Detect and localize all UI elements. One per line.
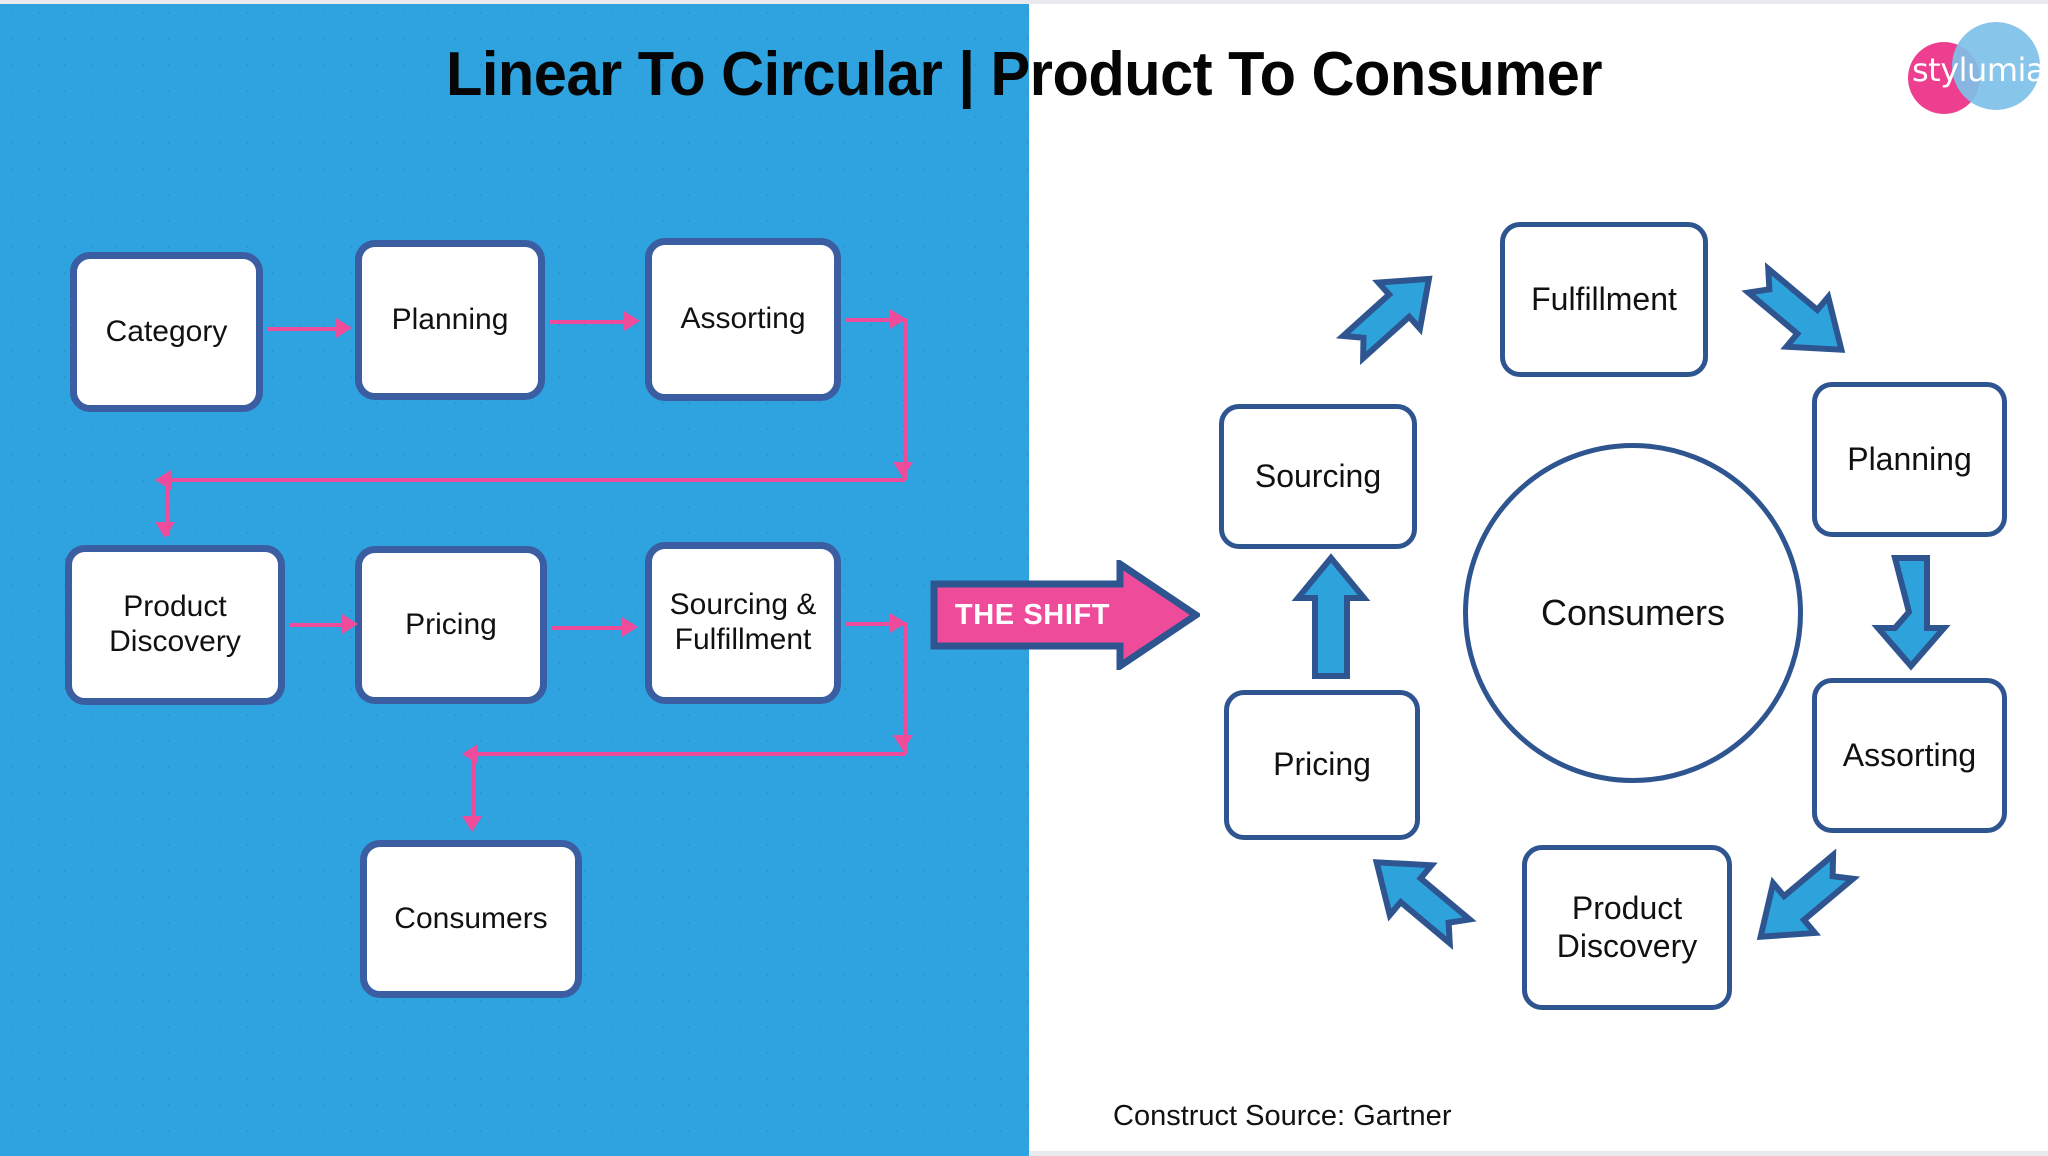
linear-edge-pricing-sf-head — [622, 617, 638, 637]
circular-arrow-pricing-to-sourcing — [1288, 552, 1374, 682]
stylumia-logo: stylumia — [1908, 16, 2036, 120]
linear-edge-pd-pricing — [290, 623, 346, 627]
linear-node-product-discovery[interactable]: Product Discovery — [65, 545, 285, 705]
linear-edge-sf-down-head — [893, 735, 913, 751]
linear-edge-assorting-down — [903, 320, 907, 480]
linear-edge-category-planning — [268, 327, 338, 331]
linear-node-category[interactable]: Category — [70, 252, 263, 412]
linear-edge-planning-assorting-head — [624, 311, 640, 331]
cpd-line-2: Discovery — [1557, 928, 1697, 964]
circular-arrow-sourcing-to-fulfillment — [1336, 268, 1446, 358]
circular-node-planning-label: Planning — [1841, 441, 1978, 478]
linear-node-sourcing-fulfillment[interactable]: Sourcing & Fulfillment — [645, 542, 841, 704]
top-divider — [0, 0, 2048, 4]
linear-node-pricing-label: Pricing — [399, 608, 503, 643]
linear-edge-row2-return — [472, 752, 905, 756]
linear-node-planning-label: Planning — [386, 303, 515, 338]
pd-line-1: Product — [123, 590, 226, 623]
linear-node-sourcing-fulfillment-label: Sourcing & Fulfillment — [664, 588, 823, 658]
linear-edge-to-consumers-head — [462, 816, 482, 832]
linear-edge-category-planning-head — [336, 318, 352, 338]
circular-arrow-fulfillment-to-planning — [1740, 268, 1860, 363]
linear-edge-pricing-sf — [552, 626, 624, 630]
sf-line-2: Fulfillment — [675, 623, 812, 656]
circular-arrow-assorting-to-product-discovery — [1742, 855, 1862, 950]
circular-node-pricing-label: Pricing — [1267, 746, 1377, 783]
circular-arrow-planning-to-assorting — [1868, 552, 1954, 670]
linear-node-planning[interactable]: Planning — [355, 240, 545, 400]
cpd-line-1: Product — [1572, 890, 1682, 926]
circular-node-pricing[interactable]: Pricing — [1224, 690, 1420, 840]
linear-edge-planning-assorting — [550, 320, 626, 324]
circular-node-planning[interactable]: Planning — [1812, 382, 2007, 537]
circular-center-consumers: Consumers — [1463, 443, 1803, 783]
linear-node-consumers[interactable]: Consumers — [360, 840, 582, 998]
circular-node-product-discovery-label: Product Discovery — [1551, 890, 1703, 964]
linear-edge-to-product-discovery-head — [155, 522, 175, 538]
circular-node-sourcing[interactable]: Sourcing — [1219, 404, 1417, 549]
the-shift-arrow[interactable]: THE SHIFT — [930, 560, 1200, 670]
source-note: Construct Source: Gartner — [1113, 1100, 1451, 1133]
linear-node-assorting-label: Assorting — [674, 302, 811, 337]
linear-node-consumers-label: Consumers — [388, 902, 553, 937]
slide-canvas: Linear To Circular | Product To Consumer… — [0, 0, 2048, 1156]
circular-node-fulfillment[interactable]: Fulfillment — [1500, 222, 1708, 377]
linear-edge-assorting-down-head — [893, 462, 913, 478]
sf-line-1: Sourcing & — [670, 588, 817, 621]
pd-line-2: Discovery — [109, 625, 241, 658]
circular-node-product-discovery[interactable]: Product Discovery — [1522, 845, 1732, 1010]
page-title: Linear To Circular | Product To Consumer — [41, 44, 2007, 106]
circular-arrow-product-discovery-to-pricing — [1358, 850, 1478, 945]
circular-center-label: Consumers — [1541, 592, 1725, 634]
linear-node-category-label: Category — [100, 315, 234, 350]
linear-node-pricing[interactable]: Pricing — [355, 546, 547, 704]
linear-edge-row1-return — [165, 478, 905, 482]
linear-edge-to-consumers — [472, 752, 476, 820]
logo-wordmark: stylumia — [1912, 54, 2036, 86]
circular-node-sourcing-label: Sourcing — [1249, 458, 1387, 495]
linear-node-assorting[interactable]: Assorting — [645, 238, 841, 401]
linear-edge-pd-pricing-head — [342, 614, 358, 634]
circular-node-fulfillment-label: Fulfillment — [1525, 281, 1683, 318]
circular-node-assorting[interactable]: Assorting — [1812, 678, 2007, 833]
linear-node-product-discovery-label: Product Discovery — [103, 590, 247, 660]
bottom-divider — [1029, 1151, 2048, 1156]
circular-node-assorting-label: Assorting — [1837, 737, 1982, 774]
